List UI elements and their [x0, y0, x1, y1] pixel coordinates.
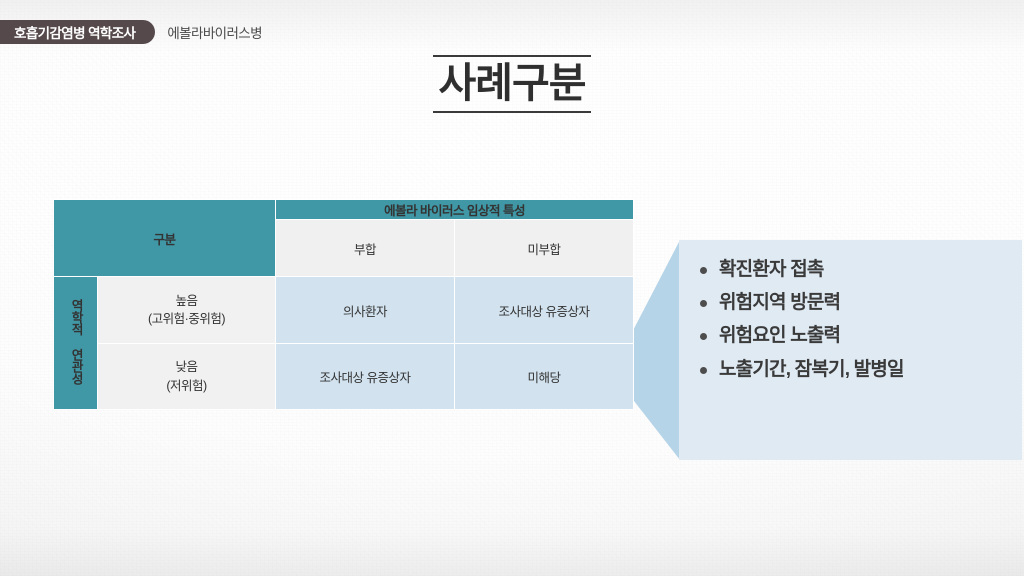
- breadcrumb-primary: 호흡기감염병 역학조사: [0, 20, 155, 44]
- header-sub-nomatch: 미부합: [455, 220, 634, 277]
- list-item: 위험요인 노출력: [697, 324, 1010, 347]
- title-rule-bottom: [433, 111, 591, 113]
- cell-high-match: 의사환자: [276, 277, 455, 344]
- page-title: 사례구분: [0, 57, 1024, 111]
- row-label-low-main: 낮음: [98, 358, 275, 376]
- page-title-block: 사례구분: [0, 55, 1024, 113]
- row-label-low-sub: (저위험): [98, 377, 275, 395]
- callout-list: 확진환자 접촉 위험지역 방문력 위험요인 노출력 노출기간, 잠복기, 발병일: [697, 258, 1010, 391]
- list-item: 노출기간, 잠복기, 발병일: [697, 358, 1010, 381]
- row-axis-label-text: 역학적 연관성: [69, 299, 82, 385]
- row-label-high-sub: (고위험·중위험): [98, 310, 275, 328]
- cell-low-match: 조사대상 유증상자: [276, 344, 455, 410]
- row-axis-label: 역학적 연관성: [54, 277, 98, 410]
- list-item: 확진환자 접촉: [697, 258, 1010, 281]
- cell-high-nomatch: 조사대상 유증상자: [455, 277, 634, 344]
- callout-arrow-icon: [632, 240, 680, 460]
- breadcrumb-secondary: 에볼라바이러스병: [167, 22, 262, 42]
- row-label-high-main: 높음: [98, 292, 275, 310]
- header-sub-match: 부합: [276, 220, 455, 277]
- table-header-row-top: 구분 에볼라 바이러스 임상적 특성: [54, 200, 634, 220]
- header-clinical: 에볼라 바이러스 임상적 특성: [276, 200, 634, 220]
- header-group: 구분: [54, 200, 276, 277]
- row-label-low: 낮음 (저위험): [98, 344, 276, 410]
- epi-link-callout: 확진환자 접촉 위험지역 방문력 위험요인 노출력 노출기간, 잠복기, 발병일: [632, 240, 1022, 460]
- list-item: 위험지역 방문력: [697, 291, 1010, 314]
- breadcrumb: 호흡기감염병 역학조사 에볼라바이러스병: [0, 20, 262, 44]
- callout-body: 확진환자 접촉 위험지역 방문력 위험요인 노출력 노출기간, 잠복기, 발병일: [679, 240, 1022, 460]
- case-classification-table: 구분 에볼라 바이러스 임상적 특성 부합 미부합 역학적 연관성 높음 (고위…: [53, 199, 634, 410]
- table-row: 낮음 (저위험) 조사대상 유증상자 미해당: [54, 344, 634, 410]
- row-label-high: 높음 (고위험·중위험): [98, 277, 276, 344]
- cell-low-nomatch: 미해당: [455, 344, 634, 410]
- table-row: 역학적 연관성 높음 (고위험·중위험) 의사환자 조사대상 유증상자: [54, 277, 634, 344]
